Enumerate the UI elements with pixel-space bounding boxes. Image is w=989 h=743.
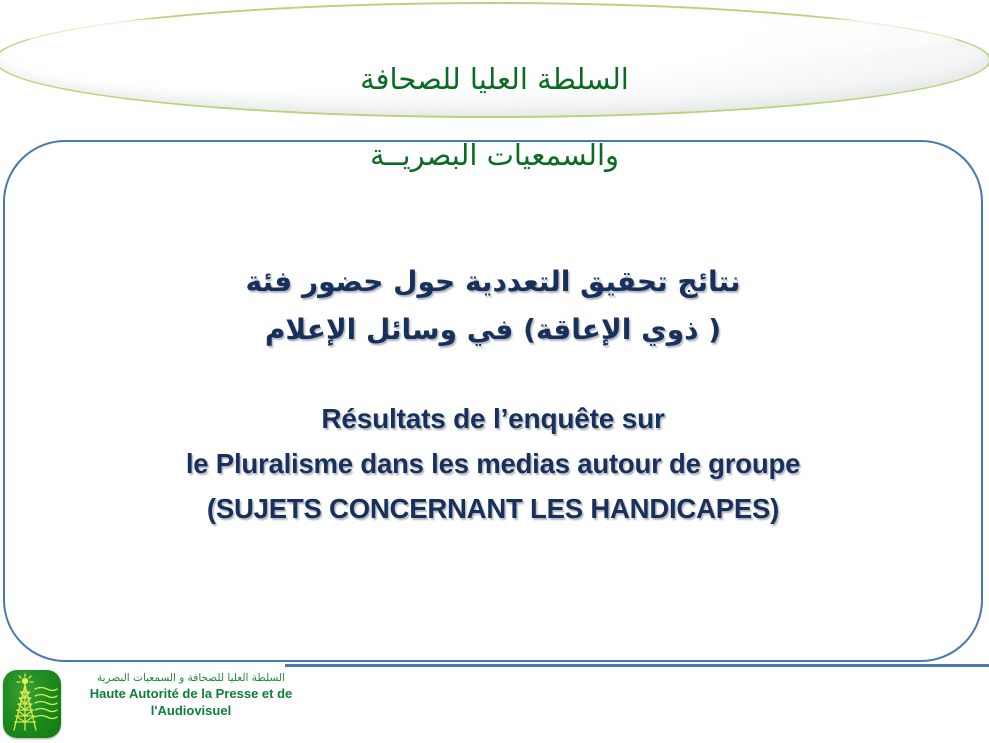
arabic-title: نتائج تحقيق التعددية حول حضور فئة ( ذوي … bbox=[245, 258, 740, 354]
french-title-line-3: (SUJETS CONCERNANT LES HANDICAPES) bbox=[186, 486, 800, 531]
footer-branding: السلطة العليا للصحافة و السمعيات البصرية… bbox=[0, 668, 320, 743]
french-title: Résultats de l’enquête sur le Pluralisme… bbox=[186, 396, 800, 531]
presentation-slide: السلطة العليا للصحافة والسمعيات البصريــ… bbox=[0, 0, 989, 743]
broadcast-tower-icon bbox=[3, 670, 61, 738]
slide-title-block: نتائج تحقيق التعددية حول حضور فئة ( ذوي … bbox=[3, 140, 983, 662]
organization-header-title: السلطة العليا للصحافة والسمعيات البصريــ… bbox=[0, 22, 989, 212]
arabic-title-line-1: نتائج تحقيق التعددية حول حضور فئة bbox=[245, 258, 740, 306]
footer-divider-rule bbox=[285, 664, 989, 667]
arabic-title-line-2: ( ذوي الإعاقة) في وسائل الإعلام bbox=[245, 306, 740, 354]
footer-name-arabic: السلطة العليا للصحافة و السمعيات البصرية bbox=[66, 671, 316, 685]
header-title-line-2: والسمعيات البصريــة bbox=[0, 136, 989, 174]
footer-name-french-line-2: l'Audiovisuel bbox=[66, 702, 316, 719]
footer-name-french-line-1: Haute Autorité de la Presse et de bbox=[66, 685, 316, 702]
header-title-line-1: السلطة العليا للصحافة bbox=[0, 60, 989, 98]
footer-organization-name: السلطة العليا للصحافة و السمعيات البصرية… bbox=[66, 671, 316, 719]
french-title-line-2: le Pluralisme dans les medias autour de … bbox=[186, 441, 800, 486]
french-title-line-1: Résultats de l’enquête sur bbox=[186, 396, 800, 441]
footer-name-french: Haute Autorité de la Presse et de l'Audi… bbox=[66, 685, 316, 719]
